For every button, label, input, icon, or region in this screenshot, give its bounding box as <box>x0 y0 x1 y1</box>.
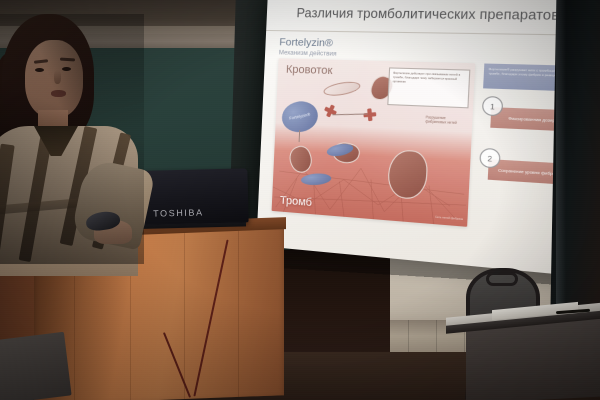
blocked-marker-1 <box>322 103 338 119</box>
chair-handle-slot <box>486 272 518 286</box>
projection-screen: Различия тромболитических препаратов For… <box>256 0 597 277</box>
side-table <box>0 332 72 400</box>
diagram-label-bloodstream: Кровоток <box>286 64 333 78</box>
slide-title-bar: Различия тромболитических препаратов <box>266 0 597 36</box>
vessel-shape <box>323 79 362 98</box>
drug-arrow <box>299 130 301 142</box>
connector-line <box>332 113 367 115</box>
diagram-callout: Фортелизин действует при связывании ните… <box>387 67 470 108</box>
face-shading <box>25 40 83 118</box>
presentation-slide: Различия тромболитических препаратов For… <box>256 0 597 277</box>
blocked-marker-2 <box>363 108 377 122</box>
slide-brand-block: Fortelyzin® Механизм действия <box>279 36 338 58</box>
presenter <box>0 14 144 264</box>
table-body <box>466 318 600 400</box>
slide-title: Различия тромболитических препаратов <box>296 6 559 23</box>
brand-name: Fortelyzin® <box>279 36 337 49</box>
photo-scene: Различия тромболитических препаратов For… <box>0 0 600 400</box>
wall-edge-highlight <box>556 0 566 340</box>
diagram-annotation: Разрушение фибриновых нитей <box>425 115 463 125</box>
brand-caption: Механизм действия <box>279 49 337 57</box>
mechanism-diagram: Кровоток Тромб Fortelyzin® <box>272 58 476 226</box>
